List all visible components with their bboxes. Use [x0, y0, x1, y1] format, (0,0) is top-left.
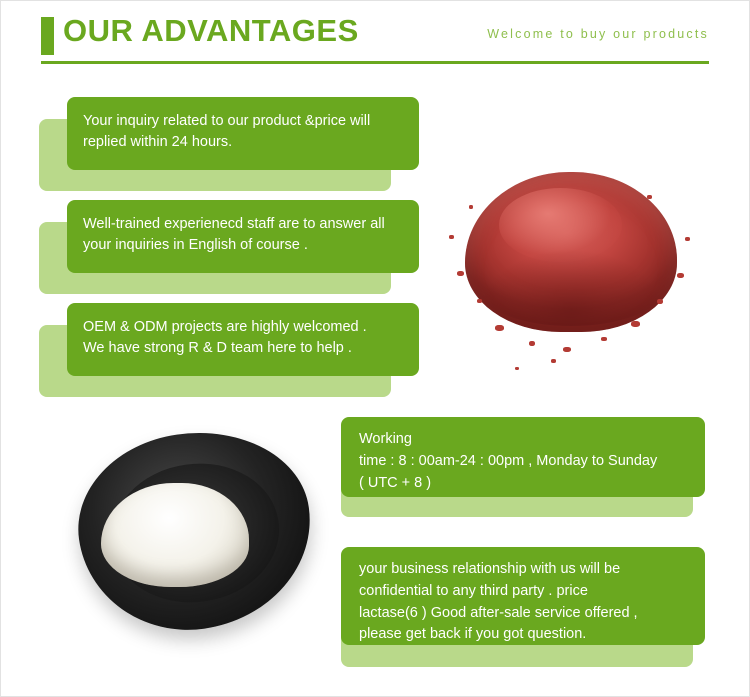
powder-speck	[657, 299, 663, 304]
powder-speck	[529, 341, 535, 346]
powder-speck	[457, 271, 464, 276]
advantage-text-2: Well-trained experienecd staff are to an…	[67, 200, 419, 273]
powder-speck	[477, 299, 482, 303]
header-tagline: Welcome to buy our products	[487, 27, 709, 41]
page-title: OUR ADVANTAGES	[63, 13, 359, 49]
advantages-page: OUR ADVANTAGES Welcome to buy our produc…	[0, 0, 750, 697]
business-relationship-text: your business relationship with us will …	[341, 547, 705, 645]
powder-speck	[515, 367, 519, 370]
advantage-item-3: OEM & ODM projects are highly welcomed .…	[39, 303, 421, 399]
powder-speck	[469, 205, 473, 209]
header-divider	[41, 61, 709, 64]
powder-speck	[631, 321, 640, 327]
white-powder-bowl-image	[45, 405, 337, 667]
powder-speck	[647, 195, 652, 199]
powder-speck	[677, 273, 684, 278]
red-powder-pile-image	[433, 85, 709, 395]
powder-speck	[685, 237, 690, 241]
header-accent-bar	[41, 17, 54, 55]
powder-speck	[495, 325, 504, 331]
powder-speck	[551, 359, 556, 363]
red-powder-mound	[465, 172, 677, 332]
advantage-text-3: OEM & ODM projects are highly welcomed .…	[67, 303, 419, 376]
advantage-item-2: Well-trained experienecd staff are to an…	[39, 200, 421, 296]
page-header: OUR ADVANTAGES Welcome to buy our produc…	[1, 1, 750, 67]
working-hours-text: Working time : 8 : 00am-24 : 00pm , Mond…	[341, 417, 705, 497]
powder-speck	[563, 347, 571, 352]
powder-speck	[601, 337, 607, 341]
advantage-item-1: Your inquiry related to our product &pri…	[39, 97, 421, 193]
white-powder-mound	[101, 483, 249, 587]
powder-speck	[449, 235, 454, 239]
advantage-text-1: Your inquiry related to our product &pri…	[67, 97, 419, 170]
